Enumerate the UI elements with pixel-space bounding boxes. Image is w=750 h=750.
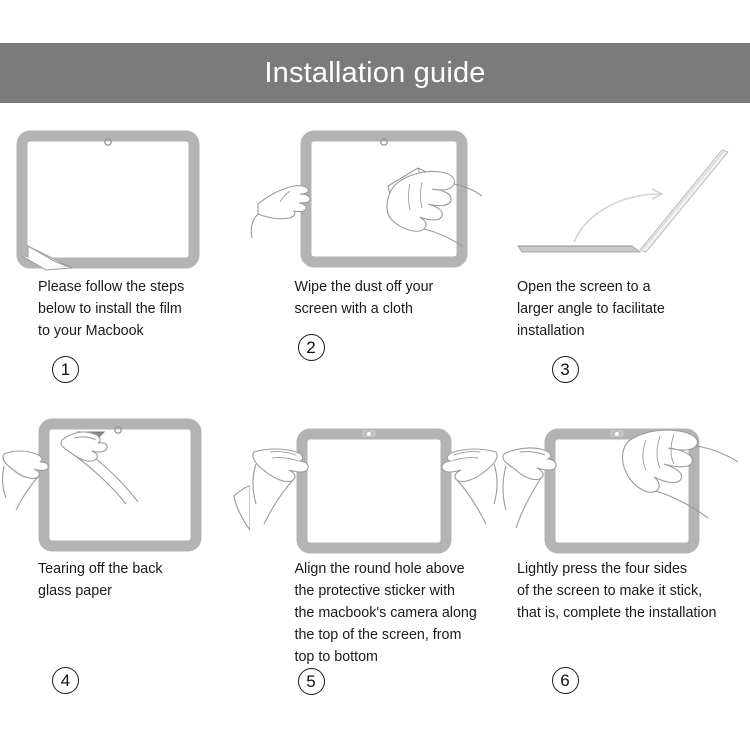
caption-line: below to install the film: [38, 298, 230, 320]
step-caption-5: Align the round hole above the protectiv…: [263, 558, 488, 668]
caption-line: installation: [517, 320, 745, 342]
step-number-wrap-3: 3: [449, 356, 750, 389]
step-caption-1: Please follow the steps below to install…: [20, 276, 230, 342]
illustration-laptop-side-view-opening-screen: [500, 128, 750, 276]
caption-line: glass paper: [38, 580, 230, 602]
steps-row-bottom: Tearing off the back glass paper 4: [0, 410, 750, 700]
step-number-badge-4: 4: [52, 667, 79, 694]
step-number-badge-6: 6: [552, 667, 579, 694]
step-caption-2: Wipe the dust off your screen with a clo…: [263, 276, 488, 320]
caption-line: screen with a cloth: [295, 298, 488, 320]
illustration-hand-wiping-screen-with-cloth: [250, 128, 500, 276]
caption-line: top to bottom: [295, 646, 488, 668]
illustration-two-hands-aligning-film-top-corners: [250, 410, 500, 558]
step-caption-6: Lightly press the four sides of the scre…: [505, 558, 745, 624]
step-caption-3: Open the screen to a larger angle to fac…: [505, 276, 745, 342]
step-card-4: Tearing off the back glass paper 4: [0, 410, 250, 700]
caption-line: Lightly press the four sides: [517, 558, 745, 580]
caption-line: of the screen to make it stick,: [517, 580, 745, 602]
caption-line: Align the round hole above: [295, 558, 488, 580]
header-bar: Installation guide: [0, 43, 750, 103]
step-card-5: Align the round hole above the protectiv…: [250, 410, 500, 700]
step-caption-4: Tearing off the back glass paper: [20, 558, 230, 602]
steps-row-top: Please follow the steps below to install…: [0, 128, 750, 410]
step-card-3: Open the screen to a larger angle to fac…: [500, 128, 750, 410]
illustration-hand-pressing-film-onto-screen: [500, 410, 750, 558]
caption-line: the top of the screen, from: [295, 624, 488, 646]
step-card-6: Lightly press the four sides of the scre…: [500, 410, 750, 700]
caption-line: Please follow the steps: [38, 276, 230, 298]
caption-line: Wipe the dust off your: [295, 276, 488, 298]
illustration-two-hands-tearing-backing-paper: [0, 410, 250, 558]
page-title: Installation guide: [264, 59, 485, 88]
caption-line: to your Macbook: [38, 320, 230, 342]
illustration-screen-with-peeling-film-corner: [0, 128, 250, 276]
step-number-badge-2: 2: [298, 334, 325, 361]
caption-line: Open the screen to a: [517, 276, 745, 298]
installation-steps-grid: Please follow the steps below to install…: [0, 128, 750, 700]
caption-line: Tearing off the back: [38, 558, 230, 580]
step-number-wrap-6: 6: [449, 667, 750, 700]
step-number-badge-5: 5: [298, 668, 325, 695]
step-number-badge-1: 1: [52, 356, 79, 383]
caption-line: larger angle to facilitate: [517, 298, 745, 320]
caption-line: that is, complete the installation: [517, 602, 745, 624]
caption-line: the protective sticker with: [295, 580, 488, 602]
step-card-1: Please follow the steps below to install…: [0, 128, 250, 410]
caption-line: the macbook's camera along: [295, 602, 488, 624]
step-number-badge-3: 3: [552, 356, 579, 383]
